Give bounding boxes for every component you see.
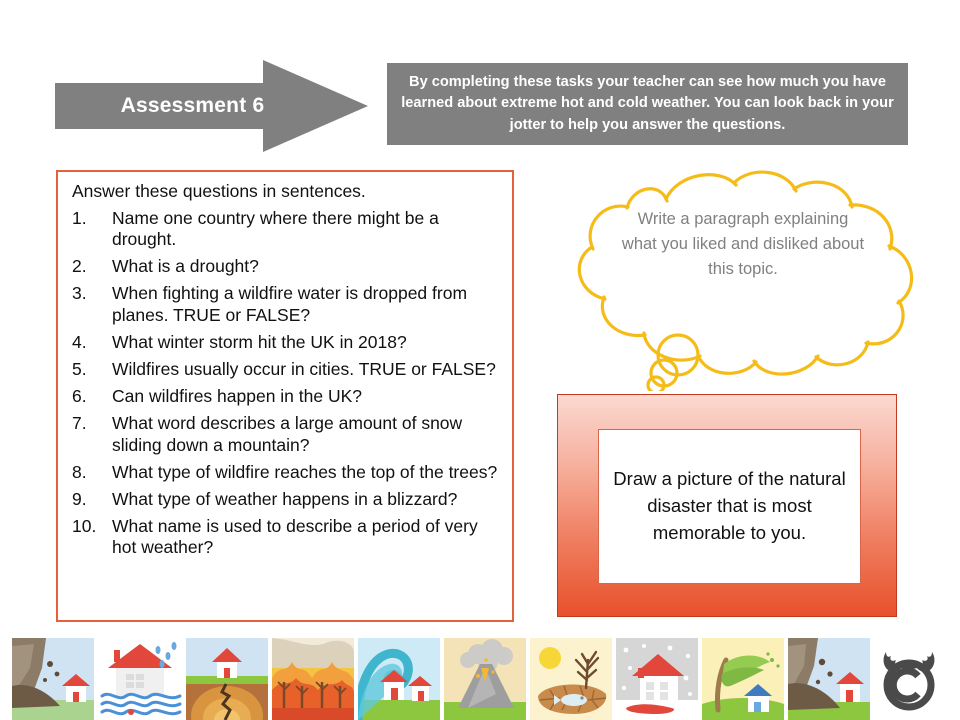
windstorm-icon [702,638,784,720]
question-text: When fighting a wildfire water is droppe… [112,283,467,325]
copyright-moose-logo-icon [872,644,946,714]
question-number: 8. [72,462,106,484]
questions-panel: Answer these questions in sentences. 1. … [56,170,514,622]
question-item: 2. What is a drought? [70,256,500,278]
assessment-title-label: Assessment 6 [55,56,330,156]
question-number: 2. [72,256,106,278]
question-text: What word describes a large amount of sn… [112,413,462,455]
question-item: 6. Can wildfires happen in the UK? [70,386,500,408]
question-item: 4. What winter storm hit the UK in 2018? [70,332,500,354]
draw-picture-instruction: Draw a picture of the natural disaster t… [599,466,860,546]
question-text: What type of weather happens in a blizza… [112,489,457,509]
question-number: 3. [72,283,106,305]
question-text: What winter storm hit the UK in 2018? [112,332,407,352]
question-text: What is a drought? [112,256,259,276]
question-number: 5. [72,359,106,381]
question-item: 7. What word describes a large amount of… [70,413,500,456]
question-text: What name is used to describe a period o… [112,516,478,558]
question-number: 9. [72,489,106,511]
question-item: 9. What type of weather happens in a bli… [70,489,500,511]
earthquake-icon [186,638,268,720]
blizzard-icon [616,638,698,720]
landslide-icon [12,638,94,720]
drought-icon [530,638,612,720]
questions-intro-text: Answer these questions in sentences. [70,181,500,203]
volcano-icon [444,638,526,720]
question-number: 7. [72,413,106,435]
thought-bubble: Write a paragraph explaining what you li… [548,163,938,391]
question-item: 10. What name is used to describe a peri… [70,516,500,559]
question-number: 10. [72,516,106,538]
question-text: What type of wildfire reaches the top of… [112,462,497,482]
question-number: 6. [72,386,106,408]
question-item: 3. When fighting a wildfire water is dro… [70,283,500,326]
question-number: 4. [72,332,106,354]
flood-house-icon [100,638,182,720]
questions-list: 1. Name one country where there might be… [70,208,500,559]
assessment-title-arrow: Assessment 6 [55,56,370,156]
clipart-strip [0,638,960,720]
draw-picture-box: Draw a picture of the natural disaster t… [557,394,897,617]
tsunami-icon [358,638,440,720]
thought-bubble-text: Write a paragraph explaining what you li… [618,207,868,282]
copyright-symbol-icon [872,644,946,714]
question-item: 8. What type of wildfire reaches the top… [70,462,500,484]
instruction-banner: By completing these tasks your teacher c… [387,63,908,145]
question-item: 1. Name one country where there might be… [70,208,500,251]
draw-picture-canvas[interactable]: Draw a picture of the natural disaster t… [598,429,861,584]
question-number: 1. [72,208,106,230]
question-item: 5. Wildfires usually occur in cities. TR… [70,359,500,381]
instruction-banner-text: By completing these tasks your teacher c… [401,72,894,135]
question-text: Can wildfires happen in the UK? [112,386,362,406]
rockfall-icon [788,638,870,720]
question-text: Name one country where there might be a … [112,208,439,250]
question-text: Wildfires usually occur in cities. TRUE … [112,359,496,379]
wildfire-icon [272,638,354,720]
